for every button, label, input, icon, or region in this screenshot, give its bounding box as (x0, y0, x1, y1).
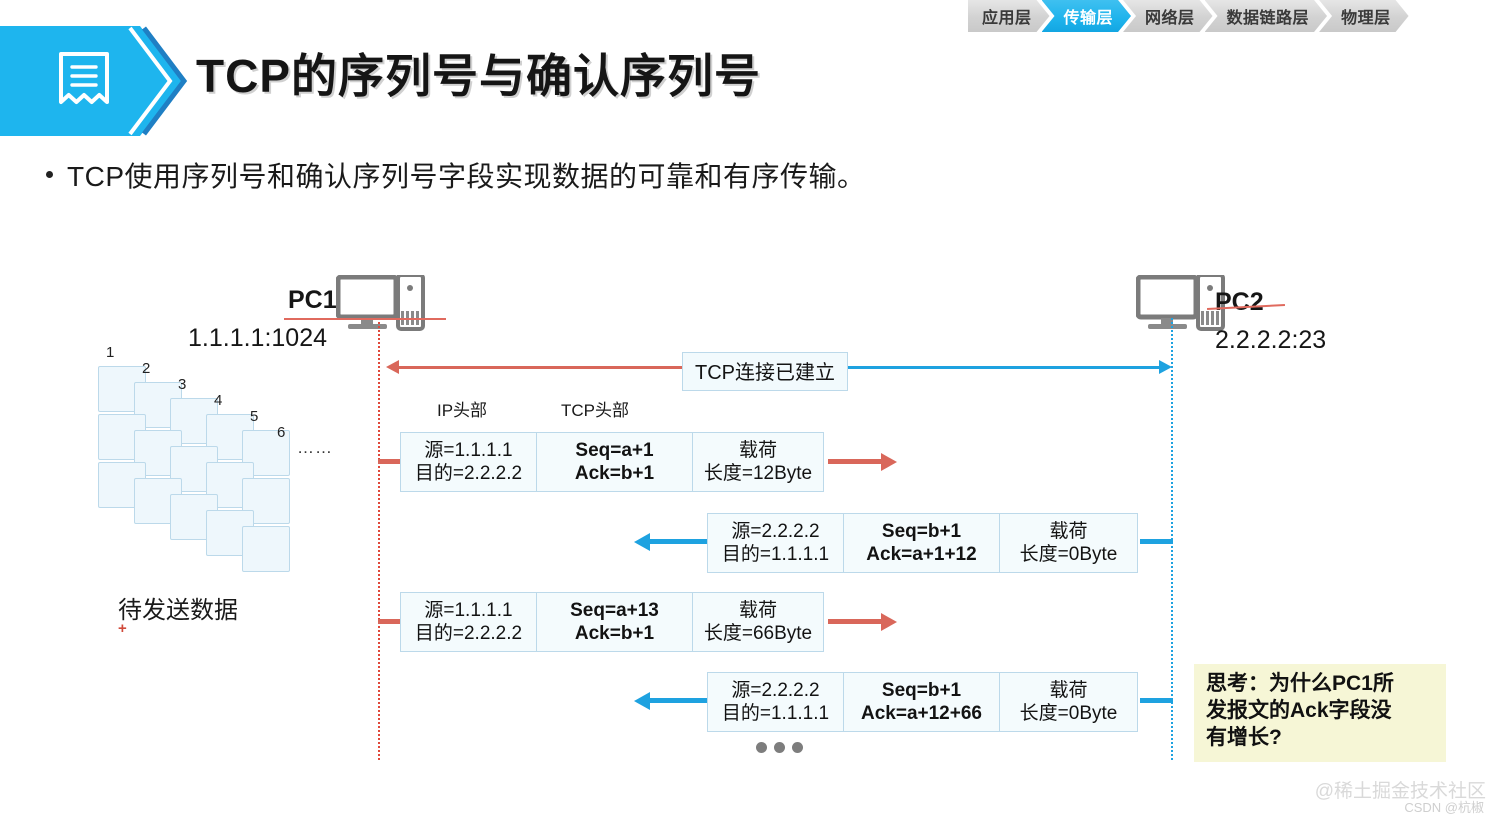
packet-2-arrow-left-icon (634, 533, 650, 551)
pc1-address: 1.1.1.1:1024 (188, 324, 327, 353)
packet-payload-line2: 长度=0Byte (1020, 702, 1118, 725)
packet-tcp-line2: Ack=b+1 (575, 622, 654, 645)
pc1-strike-line (284, 318, 446, 320)
packet-ip-line1: 源=1.1.1.1 (424, 599, 512, 622)
thinking-note-line2: 发报文的Ack字段没 (1206, 698, 1436, 725)
packet-4-arrow-left-icon (634, 692, 650, 710)
packet-tcp-line1: Seq=b+1 (882, 679, 961, 702)
packet-tcp-line2: Ack=a+1+12 (866, 543, 976, 566)
packet-payload-cell: 载荷 长度=0Byte (999, 513, 1138, 573)
thinking-note-line1: 思考：为什么PC1所 (1206, 671, 1436, 698)
packet-row-2: 源=2.2.2.2 目的=1.1.1.1 Seq=b+1 Ack=a+1+12 … (707, 513, 1138, 573)
pc2-address: 2.2.2.2:23 (1215, 326, 1326, 355)
layer-nav-item-transport[interactable]: 传输层 (1042, 0, 1132, 32)
packet-tcp-cell: Seq=b+1 Ack=a+12+66 (843, 672, 1000, 732)
established-arrow-right-icon (1159, 360, 1172, 374)
packet-payload-cell: 载荷 长度=0Byte (999, 672, 1138, 732)
packet-tcp-line2: Ack=b+1 (575, 462, 654, 485)
packet-row-3: 源=1.1.1.1 目的=2.2.2.2 Seq=a+13 Ack=b+1 载荷… (400, 592, 824, 652)
tcp-sequence-diagram: 1 2 3 4 5 6 …… 待发送数据 + PC1 1.1.1.1:1024 (0, 0, 1512, 815)
packet-2-arrow-line (649, 539, 709, 544)
watermark-secondary: CSDN @杭椒 (1404, 797, 1484, 815)
packet-ip-line2: 目的=2.2.2.2 (415, 622, 522, 645)
packet-tcp-cell: Seq=b+1 Ack=a+1+12 (843, 513, 1000, 573)
packet-tcp-cell: Seq=a+13 Ack=b+1 (536, 592, 693, 652)
packet-payload-cell: 载荷 长度=12Byte (692, 432, 824, 492)
packet-payload-line1: 载荷 (1049, 520, 1087, 543)
packet-payload-line1: 载荷 (739, 439, 777, 462)
packet-payload-line1: 载荷 (739, 599, 777, 622)
packet-payload-cell: 载荷 长度=66Byte (692, 592, 824, 652)
stack-ellipsis: …… (297, 438, 333, 458)
packet-tcp-line1: Seq=a+13 (570, 599, 659, 622)
packet-payload-line2: 长度=0Byte (1020, 543, 1118, 566)
packet-ip-line2: 目的=1.1.1.1 (722, 702, 829, 725)
packet-ip-cell: 源=1.1.1.1 目的=2.2.2.2 (400, 592, 537, 652)
stack-packet-number: 2 (142, 360, 150, 377)
packet-4-arrow-line (649, 698, 709, 703)
packet-1-arrow-line (828, 459, 883, 464)
stack-marker: + (118, 620, 127, 637)
pc1-label: PC1 (288, 286, 337, 315)
packet-tcp-line1: Seq=a+1 (575, 439, 653, 462)
slide-canvas: 应用层 传输层 网络层 数据链路层 物理层 TCP的序列号与确认序列号 TCP使… (0, 0, 1512, 815)
packet-ip-line2: 目的=1.1.1.1 (722, 543, 829, 566)
packet-payload-line2: 长度=66Byte (704, 622, 812, 645)
packet-ip-line1: 源=2.2.2.2 (731, 679, 819, 702)
stack-packet-number: 5 (250, 408, 258, 425)
packet-payload-line2: 长度=12Byte (704, 462, 812, 485)
packet-ip-cell: 源=1.1.1.1 目的=2.2.2.2 (400, 432, 537, 492)
established-line-right (846, 366, 1162, 369)
pc2-label: PC2 (1215, 288, 1264, 317)
packet-row-4: 源=2.2.2.2 目的=1.1.1.1 Seq=b+1 Ack=a+12+66… (707, 672, 1138, 732)
thinking-note: 思考：为什么PC1所 发报文的Ack字段没 有增长? (1194, 664, 1446, 762)
packet-tcp-cell: Seq=a+1 Ack=b+1 (536, 432, 693, 492)
layer-nav-label: 传输层 (1064, 4, 1114, 28)
packet-1-arrow-right-icon (881, 453, 897, 471)
packet-ip-line1: 源=2.2.2.2 (731, 520, 819, 543)
packet-ip-cell: 源=2.2.2.2 目的=1.1.1.1 (707, 672, 844, 732)
packet-row-1: 源=1.1.1.1 目的=2.2.2.2 Seq=a+1 Ack=b+1 载荷 … (400, 432, 824, 492)
pending-data-stack: 1 2 3 4 5 6 …… (92, 352, 302, 582)
packet-3-arrow-line (828, 619, 883, 624)
pending-data-label: 待发送数据 (118, 590, 238, 625)
packet-ip-cell: 源=2.2.2.2 目的=1.1.1.1 (707, 513, 844, 573)
packet-tcp-line1: Seq=b+1 (882, 520, 961, 543)
stack-packet-number: 4 (214, 392, 222, 409)
packet-tcp-line2: Ack=a+12+66 (861, 702, 982, 725)
stack-packet-number: 1 (106, 344, 114, 361)
established-arrow-left-icon (386, 360, 399, 374)
stack-packet-number: 3 (178, 376, 186, 393)
thinking-note-line3: 有增长? (1206, 725, 1436, 752)
packet-ip-line1: 源=1.1.1.1 (424, 439, 512, 462)
continuation-dots-icon (756, 742, 803, 753)
ip-header-caption: IP头部 (437, 396, 487, 421)
packet-payload-line1: 载荷 (1049, 679, 1087, 702)
packet-4-stub (1140, 698, 1173, 703)
tcp-header-caption: TCP头部 (561, 396, 629, 421)
established-label: TCP连接已建立 (682, 352, 848, 391)
pc1-lifeline (378, 322, 380, 760)
packet-ip-line2: 目的=2.2.2.2 (415, 462, 522, 485)
stack-packet (242, 526, 290, 572)
established-line-left (390, 366, 682, 369)
stack-packet-number: 6 (277, 424, 285, 441)
pc1-computer-icon (336, 275, 428, 333)
packet-2-stub (1140, 539, 1173, 544)
packet-3-arrow-right-icon (881, 613, 897, 631)
